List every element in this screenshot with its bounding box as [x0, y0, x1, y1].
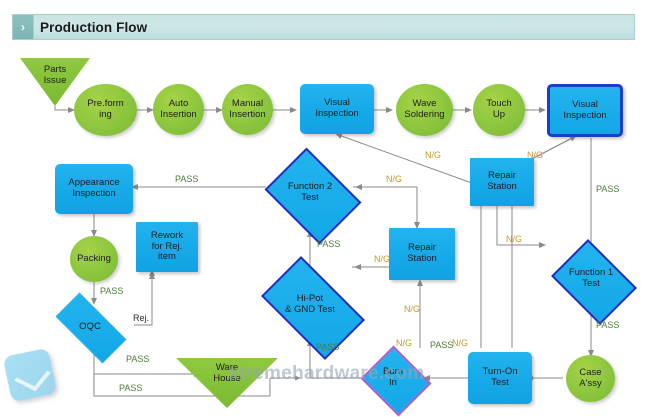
- node-label: Packing: [75, 254, 113, 265]
- node-touch-up[interactable]: TouchUp: [473, 84, 525, 136]
- node-label: Function 2Test: [286, 182, 334, 203]
- page-title: Production Flow: [40, 14, 147, 40]
- node-label: BurnIn: [381, 367, 405, 388]
- node-repair-station-1[interactable]: RepairStation: [470, 158, 534, 206]
- node-label: PartsIssue: [42, 65, 69, 86]
- edge-label-pass-visual2-function1: PASS: [596, 184, 619, 194]
- chevron-right-icon[interactable]: ›: [12, 14, 34, 40]
- node-label: RepairStation: [485, 171, 519, 192]
- edge-label-pass-packing-oqc: PASS: [100, 286, 123, 296]
- node-label: Function 1Test: [567, 268, 615, 289]
- node-label: TouchUp: [484, 99, 513, 120]
- edge-label-pass-burnin-hipot: PASS: [316, 342, 339, 352]
- node-case-assy[interactable]: CaseA'ssy: [566, 355, 615, 402]
- node-label: AutoInsertion: [158, 99, 198, 120]
- node-wave-soldering[interactable]: WaveSoldering: [396, 84, 453, 136]
- edge-label-ng-turnon-up: N/G: [452, 338, 468, 348]
- node-label: WaveSoldering: [402, 99, 446, 120]
- node-function-1-test[interactable]: Function 1Test: [545, 245, 637, 313]
- edge-label-ng-repair1-function1: N/G: [506, 234, 522, 244]
- node-label: Pre.forming: [85, 99, 125, 120]
- edge-label-pass-oqc-warehouse: PASS: [126, 354, 149, 364]
- node-packing[interactable]: Packing: [70, 236, 118, 282]
- node-label: Turn-OnTest: [480, 367, 519, 388]
- node-label: CaseA'ssy: [577, 368, 603, 389]
- node-visual-inspection-1[interactable]: VisualInspection: [300, 84, 374, 134]
- node-turn-on-test[interactable]: Turn-OnTest: [468, 352, 532, 404]
- node-appearance-inspection[interactable]: AppearanceInspection: [55, 164, 133, 214]
- node-label: RepairStation: [405, 243, 439, 264]
- edge-label-pass-function1-caseassy: PASS: [596, 320, 619, 330]
- node-label: AppearanceInspection: [66, 178, 121, 199]
- edge-label-pass-function2-appearance: PASS: [175, 174, 198, 184]
- production-flow-diagram: PartsIssue Pre.forming AutoInsertion Man…: [0, 48, 647, 402]
- node-function-2-test[interactable]: Function 2Test: [258, 154, 362, 232]
- edge-label-ng-visual1-repair1: N/G: [425, 150, 441, 160]
- edge-label-ng-hipot-repair2: N/G: [374, 254, 390, 264]
- node-ware-house[interactable]: WareHouse: [176, 358, 278, 408]
- node-label: Hi-Pot& GND Test: [283, 294, 337, 315]
- node-pre-forming[interactable]: Pre.forming: [74, 84, 137, 136]
- node-burn-in[interactable]: BurnIn: [358, 348, 428, 408]
- edge-label-rej-oqc-rework: Rej.: [133, 313, 149, 323]
- edge-label-ng-function2-repair1: N/G: [386, 174, 402, 184]
- edge-label-pass-bottom-loop: PASS: [119, 383, 142, 393]
- node-label: WareHouse: [211, 363, 242, 384]
- node-manual-insertion[interactable]: ManualInsertion: [222, 84, 273, 135]
- node-label: ManualInsertion: [227, 99, 267, 120]
- node-rework-for-rej-item[interactable]: Reworkfor Rej.item: [136, 222, 198, 272]
- node-visual-inspection-2[interactable]: VisualInspection: [547, 84, 623, 137]
- node-label: VisualInspection: [561, 100, 608, 121]
- node-oqc[interactable]: OQC: [44, 304, 136, 350]
- edge-label-pass-hipot-function2: PASS: [317, 239, 340, 249]
- edge-label-ng-burnin-up: N/G: [396, 338, 412, 348]
- node-hi-pot-gnd-test[interactable]: Hi-Pot& GND Test: [249, 268, 371, 342]
- edge-label-ng-repair2-up: N/G: [404, 304, 420, 314]
- node-auto-insertion[interactable]: AutoInsertion: [153, 84, 204, 135]
- node-label: OQC: [77, 322, 103, 333]
- edge-label-pass-turnon-burnin: PASS: [430, 340, 453, 350]
- node-repair-station-2[interactable]: RepairStation: [389, 228, 455, 280]
- edge-label-ng-visual2-repair1: N/G: [527, 150, 543, 160]
- node-label: Reworkfor Rej.item: [149, 231, 185, 263]
- node-label: VisualInspection: [313, 98, 360, 119]
